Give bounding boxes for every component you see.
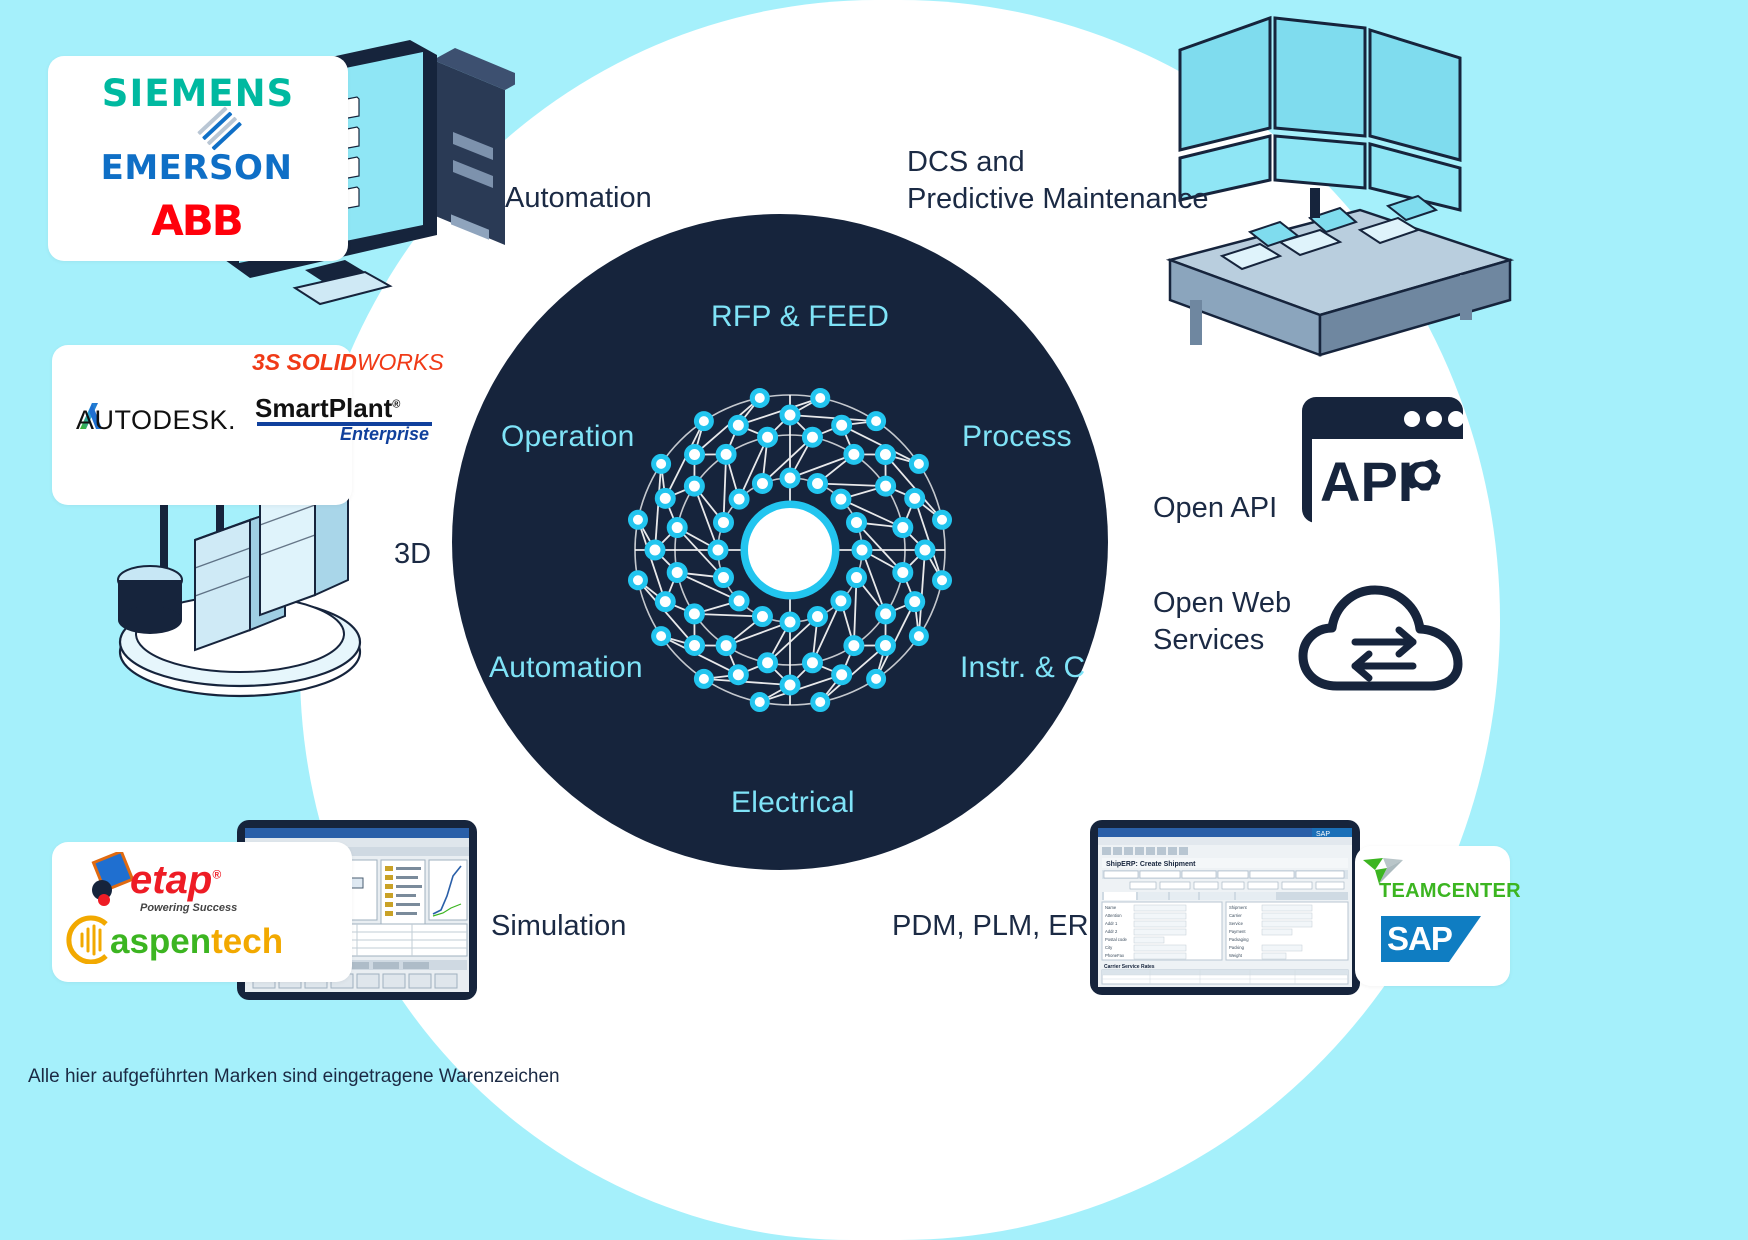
api-icon-text: API — [1320, 450, 1413, 513]
network-node — [731, 491, 747, 507]
aspen-text: aspen — [110, 922, 211, 961]
etap-tagline: Powering Success — [140, 902, 237, 914]
smartplant-text: SmartPlant — [255, 393, 392, 423]
network-node — [917, 542, 933, 558]
network-node — [647, 542, 663, 558]
teamcenter-logo: TEAMCENTER — [1379, 880, 1521, 903]
network-node — [687, 447, 703, 463]
network-node — [877, 637, 893, 653]
network-node — [760, 429, 776, 445]
svg-text:Packing: Packing — [1229, 945, 1245, 950]
network-node — [849, 514, 865, 530]
aspen-tech-text: tech — [211, 922, 283, 961]
logo-card-simulation-vendors: etap® Powering Success aspentech — [52, 842, 352, 982]
wheel-label-electrical: Electrical — [731, 786, 855, 820]
smartplant-subtitle: Enterprise — [340, 424, 429, 445]
outer-label-open-web-services: Open Web Services — [1153, 585, 1291, 659]
network-node — [854, 542, 870, 558]
network-node — [669, 564, 685, 580]
network-node — [752, 695, 767, 710]
network-node — [907, 594, 923, 610]
svg-text:PhoneFax: PhoneFax — [1105, 953, 1125, 958]
network-node — [657, 490, 673, 506]
siemens-logo: SIEMENS — [78, 72, 318, 115]
solidworks-prefix: 3S — [252, 349, 280, 375]
abb-logo: ABB — [74, 196, 319, 245]
autodesk-logo: AUTODESK. — [76, 405, 236, 436]
network-node — [813, 695, 828, 710]
network-node — [782, 470, 798, 486]
outer-label-dcs-predictive-maintenance: DCS and Predictive Maintenance — [907, 144, 1208, 218]
svg-text:Carrier: Carrier — [1229, 913, 1242, 918]
network-node — [731, 593, 747, 609]
solidworks-light: WORKS — [357, 349, 444, 375]
svg-text:Name: Name — [1105, 905, 1117, 910]
control-room-illustration — [1160, 10, 1520, 360]
outer-label-open-api: Open API — [1153, 490, 1277, 527]
logo-card-cad-vendors: AUTODESK. 3S SOLIDWORKS SmartPlant® Ente… — [52, 345, 352, 505]
erp-software-screenshot: SAP ShipERP: Create Shipment — [1090, 820, 1360, 995]
network-node — [715, 514, 731, 530]
cloud-exchange-icon — [1295, 578, 1475, 698]
network-node — [810, 475, 826, 491]
network-node — [696, 671, 711, 686]
svg-text:Postal code: Postal code — [1105, 937, 1128, 942]
network-node — [804, 429, 820, 445]
svg-text:SAP: SAP — [1316, 831, 1330, 838]
smartplant-logo: SmartPlant® — [255, 393, 400, 424]
svg-text:Shipment: Shipment — [1229, 905, 1248, 910]
network-node — [907, 490, 923, 506]
network-node — [782, 407, 798, 423]
network-node — [718, 446, 734, 462]
network-node — [846, 446, 862, 462]
outer-label-automation: Automation — [505, 180, 652, 217]
network-node — [895, 520, 911, 536]
network-node — [833, 491, 849, 507]
network-node — [657, 594, 673, 610]
wheel-label-rfp-feed: RFP & FEED — [711, 300, 889, 334]
network-node — [810, 609, 826, 625]
network-node — [760, 655, 776, 671]
network-node — [869, 414, 884, 429]
solidworks-bold: SOLID — [287, 349, 357, 375]
aspentech-logo: aspentech — [110, 922, 283, 962]
emerson-logo: EMERSON — [74, 148, 319, 188]
aspentech-mark-icon — [62, 914, 116, 964]
svg-text:ShipERP: Create Shipment: ShipERP: Create Shipment — [1106, 861, 1196, 868]
svg-text:Weight: Weight — [1229, 953, 1243, 958]
outer-label-simulation: Simulation — [491, 908, 626, 945]
outer-label-3d: 3D — [394, 536, 431, 573]
etap-text: etap — [130, 858, 212, 902]
network-node — [877, 447, 893, 463]
etap-logo: etap® — [130, 858, 221, 903]
network-node — [730, 417, 746, 433]
network-node — [754, 609, 770, 625]
network-node — [669, 520, 685, 536]
svg-text:City: City — [1105, 945, 1113, 950]
network-wheel-graphic — [600, 360, 980, 740]
logo-card-erp-vendors: TEAMCENTER SAP — [1355, 846, 1510, 986]
network-node — [730, 667, 746, 683]
svg-text:Attention: Attention — [1105, 913, 1122, 918]
svg-text:Payment: Payment — [1229, 929, 1246, 934]
svg-text:Service: Service — [1229, 921, 1244, 926]
network-node — [654, 629, 669, 644]
api-window-icon: API — [1300, 395, 1465, 525]
network-node — [878, 478, 894, 494]
svg-text:Addr 1: Addr 1 — [1105, 921, 1118, 926]
network-node — [630, 512, 645, 527]
svg-text:Packaging: Packaging — [1229, 937, 1249, 942]
network-node — [911, 629, 926, 644]
network-node — [935, 573, 950, 588]
network-node — [849, 570, 865, 586]
network-node — [935, 512, 950, 527]
network-node — [710, 542, 726, 558]
network-node — [752, 390, 767, 405]
network-node — [715, 570, 731, 586]
network-node — [686, 478, 702, 494]
network-node — [687, 637, 703, 653]
network-node — [834, 417, 850, 433]
network-node — [833, 593, 849, 609]
sap-logo: SAP — [1381, 916, 1481, 962]
trademark-footnote: Alle hier aufgeführten Marken sind einge… — [28, 1066, 560, 1088]
network-node — [846, 638, 862, 654]
network-node — [696, 414, 711, 429]
svg-text:Addr 2: Addr 2 — [1105, 929, 1118, 934]
network-node — [895, 564, 911, 580]
network-node — [782, 614, 798, 630]
outer-label-pdm-plm-erp: PDM, PLM, ERP — [892, 908, 1108, 945]
network-node — [911, 456, 926, 471]
network-node — [869, 671, 884, 686]
network-node — [878, 606, 894, 622]
network-node — [782, 677, 798, 693]
diagram-canvas: RFP & FEED Operation Process Automation … — [0, 0, 1748, 1240]
network-node — [754, 475, 770, 491]
solidworks-logo: 3S SOLIDWORKS — [252, 349, 444, 376]
network-node — [654, 456, 669, 471]
network-node — [813, 390, 828, 405]
network-node — [804, 655, 820, 671]
logo-card-automation-vendors: SIEMENS EMERSON ABB — [48, 56, 348, 261]
network-node — [630, 573, 645, 588]
network-node — [718, 638, 734, 654]
network-node — [834, 667, 850, 683]
svg-text:Carrier Service Rates: Carrier Service Rates — [1104, 964, 1155, 970]
network-node — [686, 606, 702, 622]
